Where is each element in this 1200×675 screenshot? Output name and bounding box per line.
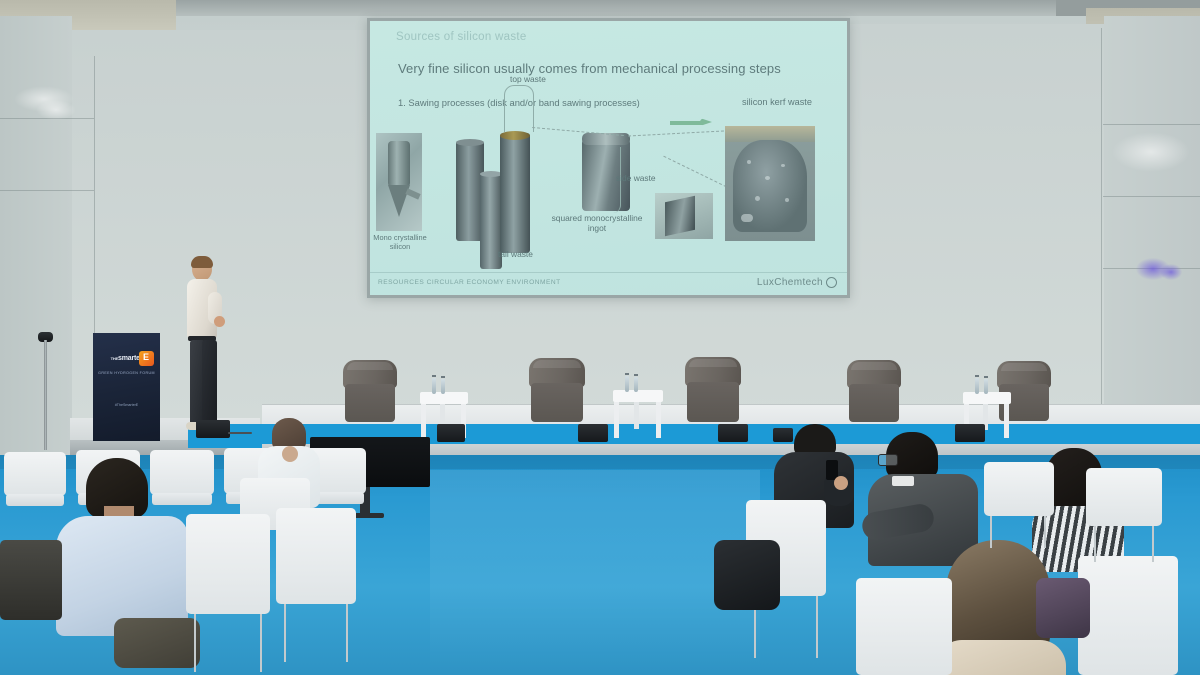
flow-dash-1 bbox=[532, 127, 624, 136]
luxchemtech-logo: LuxChemtech bbox=[757, 277, 837, 288]
side-table-2 bbox=[613, 390, 663, 442]
attendee-bag-2 bbox=[1036, 578, 1090, 638]
presenter-hand bbox=[214, 316, 225, 327]
floor-aisle-highlight bbox=[430, 470, 760, 675]
crucible-photo bbox=[376, 133, 422, 231]
label-squared-ingot: squared monocrystalline ingot bbox=[542, 213, 652, 233]
wall-seam-horizontal-2 bbox=[0, 190, 94, 191]
presentation-slide: Sources of silicon waste Very fine silic… bbox=[370, 21, 847, 295]
top-waste-bracket bbox=[504, 85, 534, 132]
glasses-icon bbox=[878, 454, 898, 466]
water-bottle bbox=[984, 379, 988, 394]
flow-dash-2 bbox=[628, 130, 724, 136]
podium-brand-the: THE bbox=[111, 356, 118, 361]
wall-seam-horizontal-4 bbox=[1103, 196, 1200, 197]
brand-name: LuxChemtech bbox=[757, 277, 823, 288]
wall-light-glint-2 bbox=[1160, 264, 1182, 280]
wall-column-left bbox=[0, 16, 72, 456]
label-top-waste: top waste bbox=[510, 74, 546, 84]
ingot-detail-photo bbox=[655, 193, 713, 239]
audience-chair-right-3 bbox=[1078, 556, 1178, 675]
lounge-chair-1 bbox=[341, 360, 399, 422]
audience-chair-front-left-2 bbox=[186, 514, 270, 674]
slide-headline: Very fine silicon usually comes from mec… bbox=[398, 61, 781, 76]
presenter-leg-back bbox=[202, 340, 217, 426]
ingot-top-waste-cap bbox=[500, 131, 530, 140]
logo-ring-icon bbox=[826, 277, 837, 288]
water-bottle bbox=[432, 378, 436, 394]
presenter-laptop-bag bbox=[196, 420, 230, 438]
audience-chair-right-5 bbox=[984, 462, 1054, 550]
slide-title: Sources of silicon waste bbox=[396, 31, 527, 43]
conference-presentation-scene: Sources of silicon waste Very fine silic… bbox=[0, 0, 1200, 675]
wall-seam-horizontal-3 bbox=[1103, 124, 1200, 125]
attendee-dark-hand bbox=[834, 476, 848, 490]
ingot-cylinder-c bbox=[500, 133, 530, 253]
lounge-chair-3 bbox=[683, 357, 743, 422]
wall-seam-vertical-2 bbox=[1101, 28, 1102, 428]
water-bottle bbox=[625, 376, 629, 392]
ceiling-band bbox=[0, 0, 1200, 16]
lounge-chair-2 bbox=[527, 358, 587, 422]
podium-brand-mark: E bbox=[143, 352, 149, 362]
wall-reflection-left-2 bbox=[36, 100, 76, 120]
attendee-beige-shoulder bbox=[936, 640, 1066, 675]
speaker-podium: THEsmarter E GREEN HYDROGEN FORUM #TheSm… bbox=[93, 333, 160, 441]
podium-subtitle: GREEN HYDROGEN FORUM bbox=[97, 371, 156, 375]
stage-monitor-speaker-2 bbox=[578, 424, 608, 442]
microphone-stand bbox=[44, 340, 47, 450]
footer-tagline: RESOURCES CIRCULAR ECONOMY ENVIRONMENT bbox=[378, 279, 561, 286]
slide-footer: RESOURCES CIRCULAR ECONOMY ENVIRONMENT L… bbox=[370, 272, 847, 295]
slide-kerf-waste-label: silicon kerf waste bbox=[742, 97, 812, 107]
attendee-bag bbox=[714, 540, 780, 610]
podium-hashtag: #TheSmarterE bbox=[97, 403, 156, 407]
attendee-suit-collar bbox=[892, 476, 914, 486]
process-arrow-icon bbox=[670, 118, 714, 127]
audience-chair-front-left-3 bbox=[276, 508, 356, 666]
presenter-hair bbox=[191, 256, 213, 268]
stage-monitor-speaker-1 bbox=[437, 424, 465, 442]
audience-chair-front-left bbox=[0, 540, 62, 675]
water-bottle bbox=[634, 377, 638, 392]
water-bottle bbox=[441, 379, 445, 394]
attendee-light-blue-shirt bbox=[52, 458, 202, 668]
attendee-white-top-neckline bbox=[282, 446, 298, 462]
flow-dash-3 bbox=[663, 156, 726, 188]
presenter bbox=[178, 258, 238, 444]
stage-monitor-speaker-3 bbox=[718, 424, 748, 442]
projection-screen: Sources of silicon waste Very fine silic… bbox=[367, 18, 850, 298]
label-side-waste: side waste bbox=[616, 173, 656, 183]
label-tail-waste: tail waste bbox=[498, 249, 533, 259]
ingot-cap-a bbox=[456, 139, 484, 146]
mono-silicon-label: Mono crystalline silicon bbox=[372, 233, 428, 251]
wall-reflection-right bbox=[1112, 132, 1190, 172]
lounge-chair-4 bbox=[845, 360, 903, 422]
audience-chair-right-4 bbox=[1086, 468, 1162, 564]
kerf-waste-photo bbox=[725, 126, 815, 241]
ingot-cap-b bbox=[480, 171, 502, 177]
water-bottle bbox=[975, 378, 979, 394]
audience-chair-right-2 bbox=[856, 578, 952, 675]
podium-logo-badge: E bbox=[139, 351, 154, 366]
wall-column-right bbox=[1104, 16, 1200, 446]
